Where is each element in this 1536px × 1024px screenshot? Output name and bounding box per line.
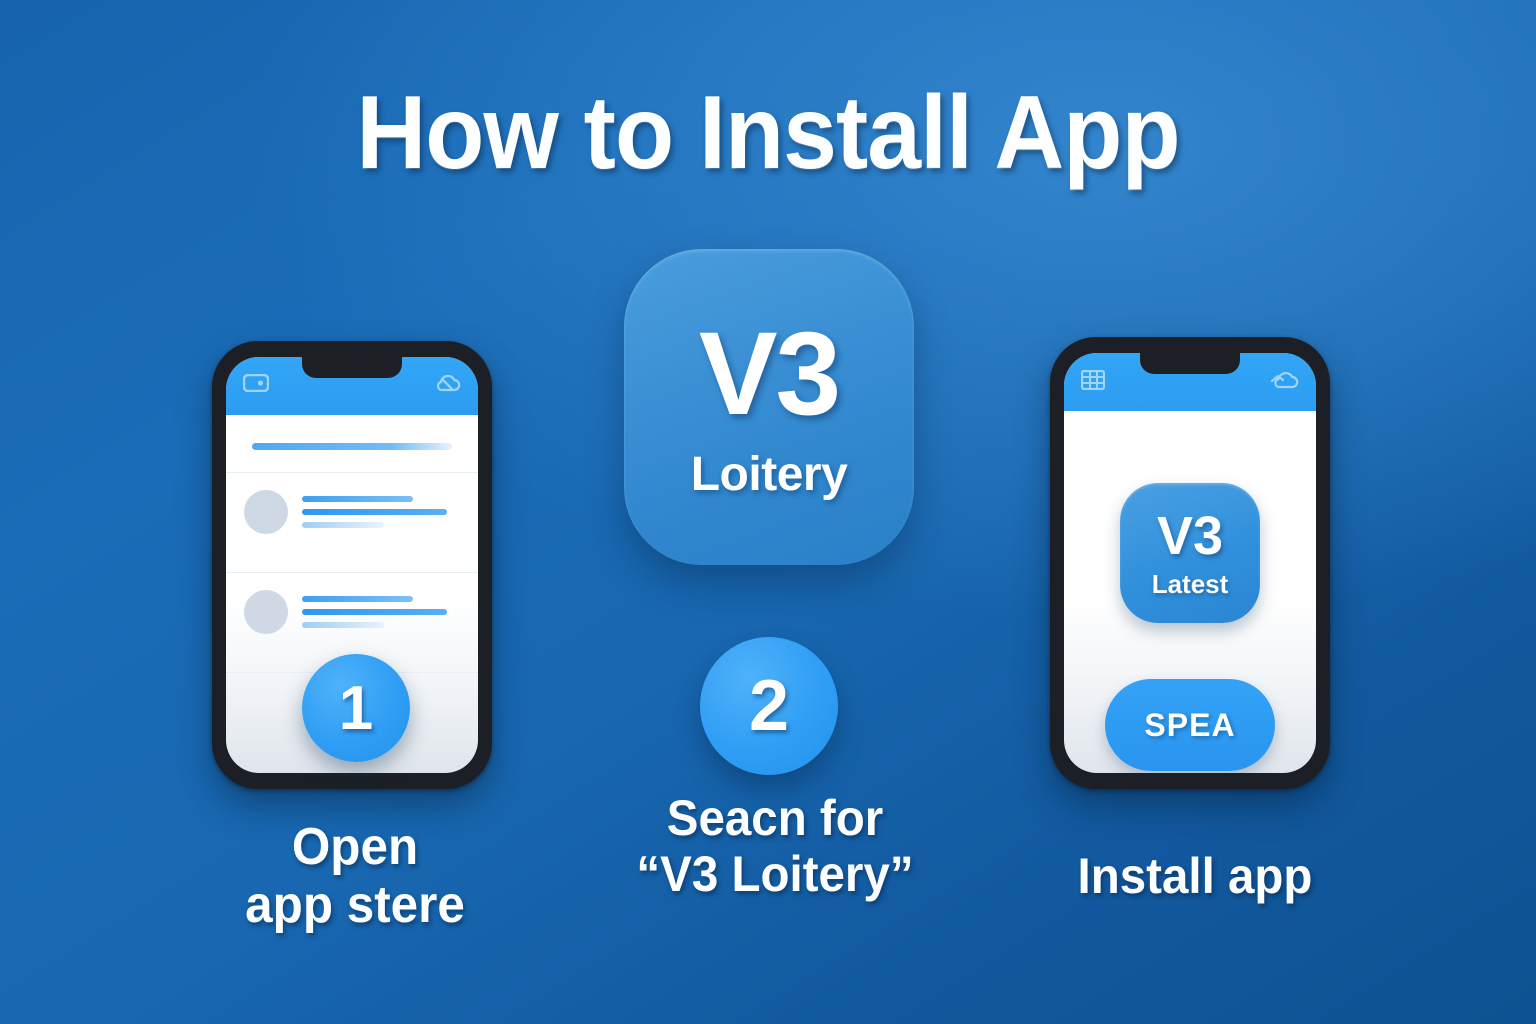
- avatar: [244, 490, 288, 534]
- phone-screen-step3: V3 Latest SPEA: [1064, 353, 1316, 773]
- text-line: [302, 509, 447, 515]
- list-item[interactable]: [244, 473, 460, 550]
- app-tile-name: V3: [1157, 509, 1223, 563]
- wallet-icon[interactable]: [243, 374, 269, 397]
- app-icon-name: V3: [699, 315, 839, 433]
- phone-statusbar-step1: [226, 357, 478, 415]
- step-caption-3-line1: Install app: [1010, 848, 1381, 904]
- infographic-canvas: How to Install App: [0, 0, 1536, 1024]
- step-badge-1: 1: [302, 654, 410, 762]
- search-bar-placeholder[interactable]: [252, 443, 452, 450]
- list-item-text: [302, 496, 460, 528]
- step-caption-1-line1: Open: [160, 818, 550, 876]
- avatar: [244, 590, 288, 634]
- step-caption-2-line1: Seacn for: [576, 790, 975, 846]
- text-line: [302, 622, 384, 628]
- step-caption-3: Install app: [1010, 848, 1381, 904]
- step-caption-1: Open app stere: [160, 818, 550, 934]
- phone-content-step1: [226, 415, 478, 673]
- step-caption-2: Seacn for “V3 Loitery”: [576, 790, 975, 902]
- app-tile-subtitle: Latest: [1152, 571, 1229, 597]
- phone-notch: [1140, 353, 1240, 374]
- app-tile[interactable]: V3 Latest: [1120, 483, 1260, 623]
- step-caption-2-line2: “V3 Loitery”: [576, 846, 975, 902]
- phone-notch: [302, 357, 402, 378]
- phone-content-step3: V3 Latest SPEA: [1064, 411, 1316, 773]
- list-item-text: [302, 596, 460, 628]
- list-item[interactable]: [244, 573, 460, 650]
- step-badge-2: 2: [700, 637, 838, 775]
- step-caption-1-line2: app stere: [160, 876, 550, 934]
- grid-icon[interactable]: [1081, 370, 1105, 395]
- cloud-icon[interactable]: [1270, 370, 1300, 395]
- install-button[interactable]: SPEA: [1105, 679, 1275, 771]
- cloud-download-icon[interactable]: [434, 374, 462, 399]
- page-title: How to Install App: [54, 74, 1482, 193]
- phone-statusbar-step3: [1064, 353, 1316, 411]
- text-line: [302, 496, 413, 502]
- text-line: [302, 522, 384, 528]
- app-icon-subtitle: Loitery: [691, 451, 848, 499]
- app-icon-large[interactable]: V3 Loitery: [624, 249, 914, 565]
- text-line: [302, 596, 413, 602]
- phone-mockup-step3: V3 Latest SPEA: [1050, 337, 1330, 789]
- text-line: [302, 609, 447, 615]
